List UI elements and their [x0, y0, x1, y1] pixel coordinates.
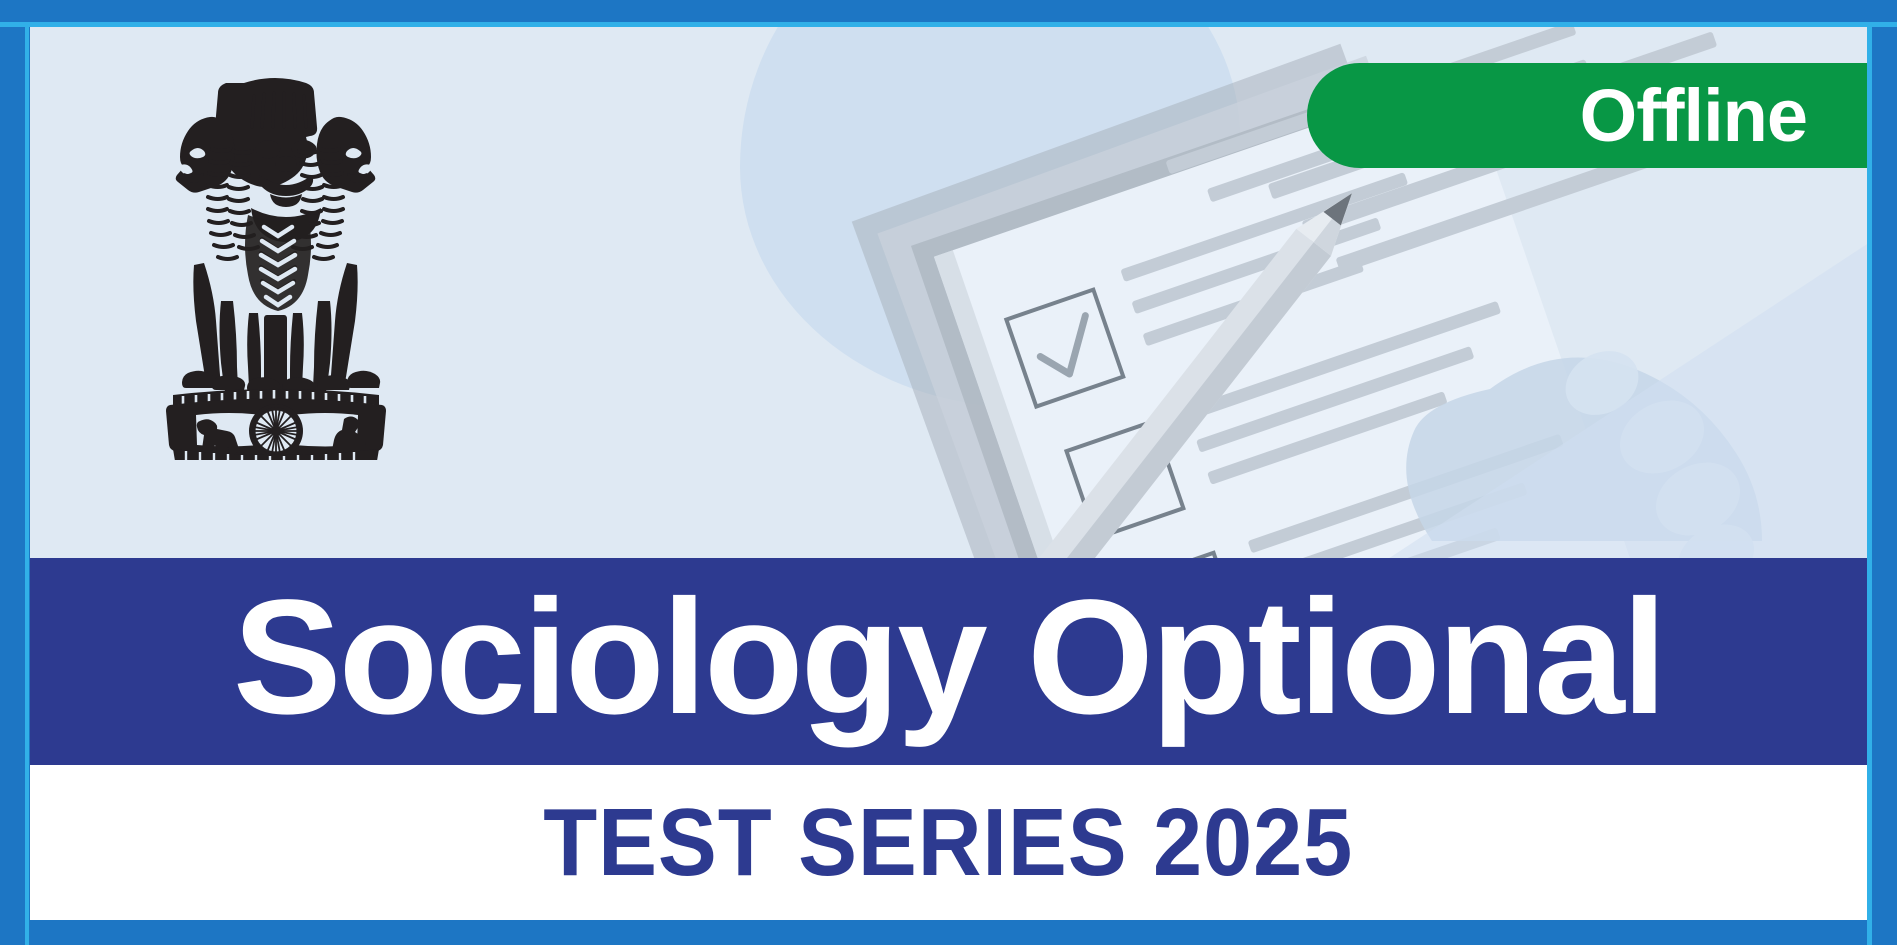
state-emblem-of-india-icon [148, 65, 403, 460]
page-title: Sociology Optional [233, 579, 1664, 735]
offline-badge: Offline [1307, 63, 1867, 168]
poster-stage: Offline Sociology Optional TEST SERIES 2… [30, 27, 1867, 920]
frame-hairline-left [25, 22, 29, 945]
subtitle-band: TEST SERIES 2025 [30, 765, 1867, 920]
course-banner-poster: Offline Sociology Optional TEST SERIES 2… [0, 0, 1897, 945]
frame-hairline-right [1867, 22, 1872, 945]
hero-illustration-area: Offline [30, 27, 1867, 558]
page-subtitle: TEST SERIES 2025 [544, 795, 1354, 891]
title-band: Sociology Optional [30, 558, 1867, 765]
